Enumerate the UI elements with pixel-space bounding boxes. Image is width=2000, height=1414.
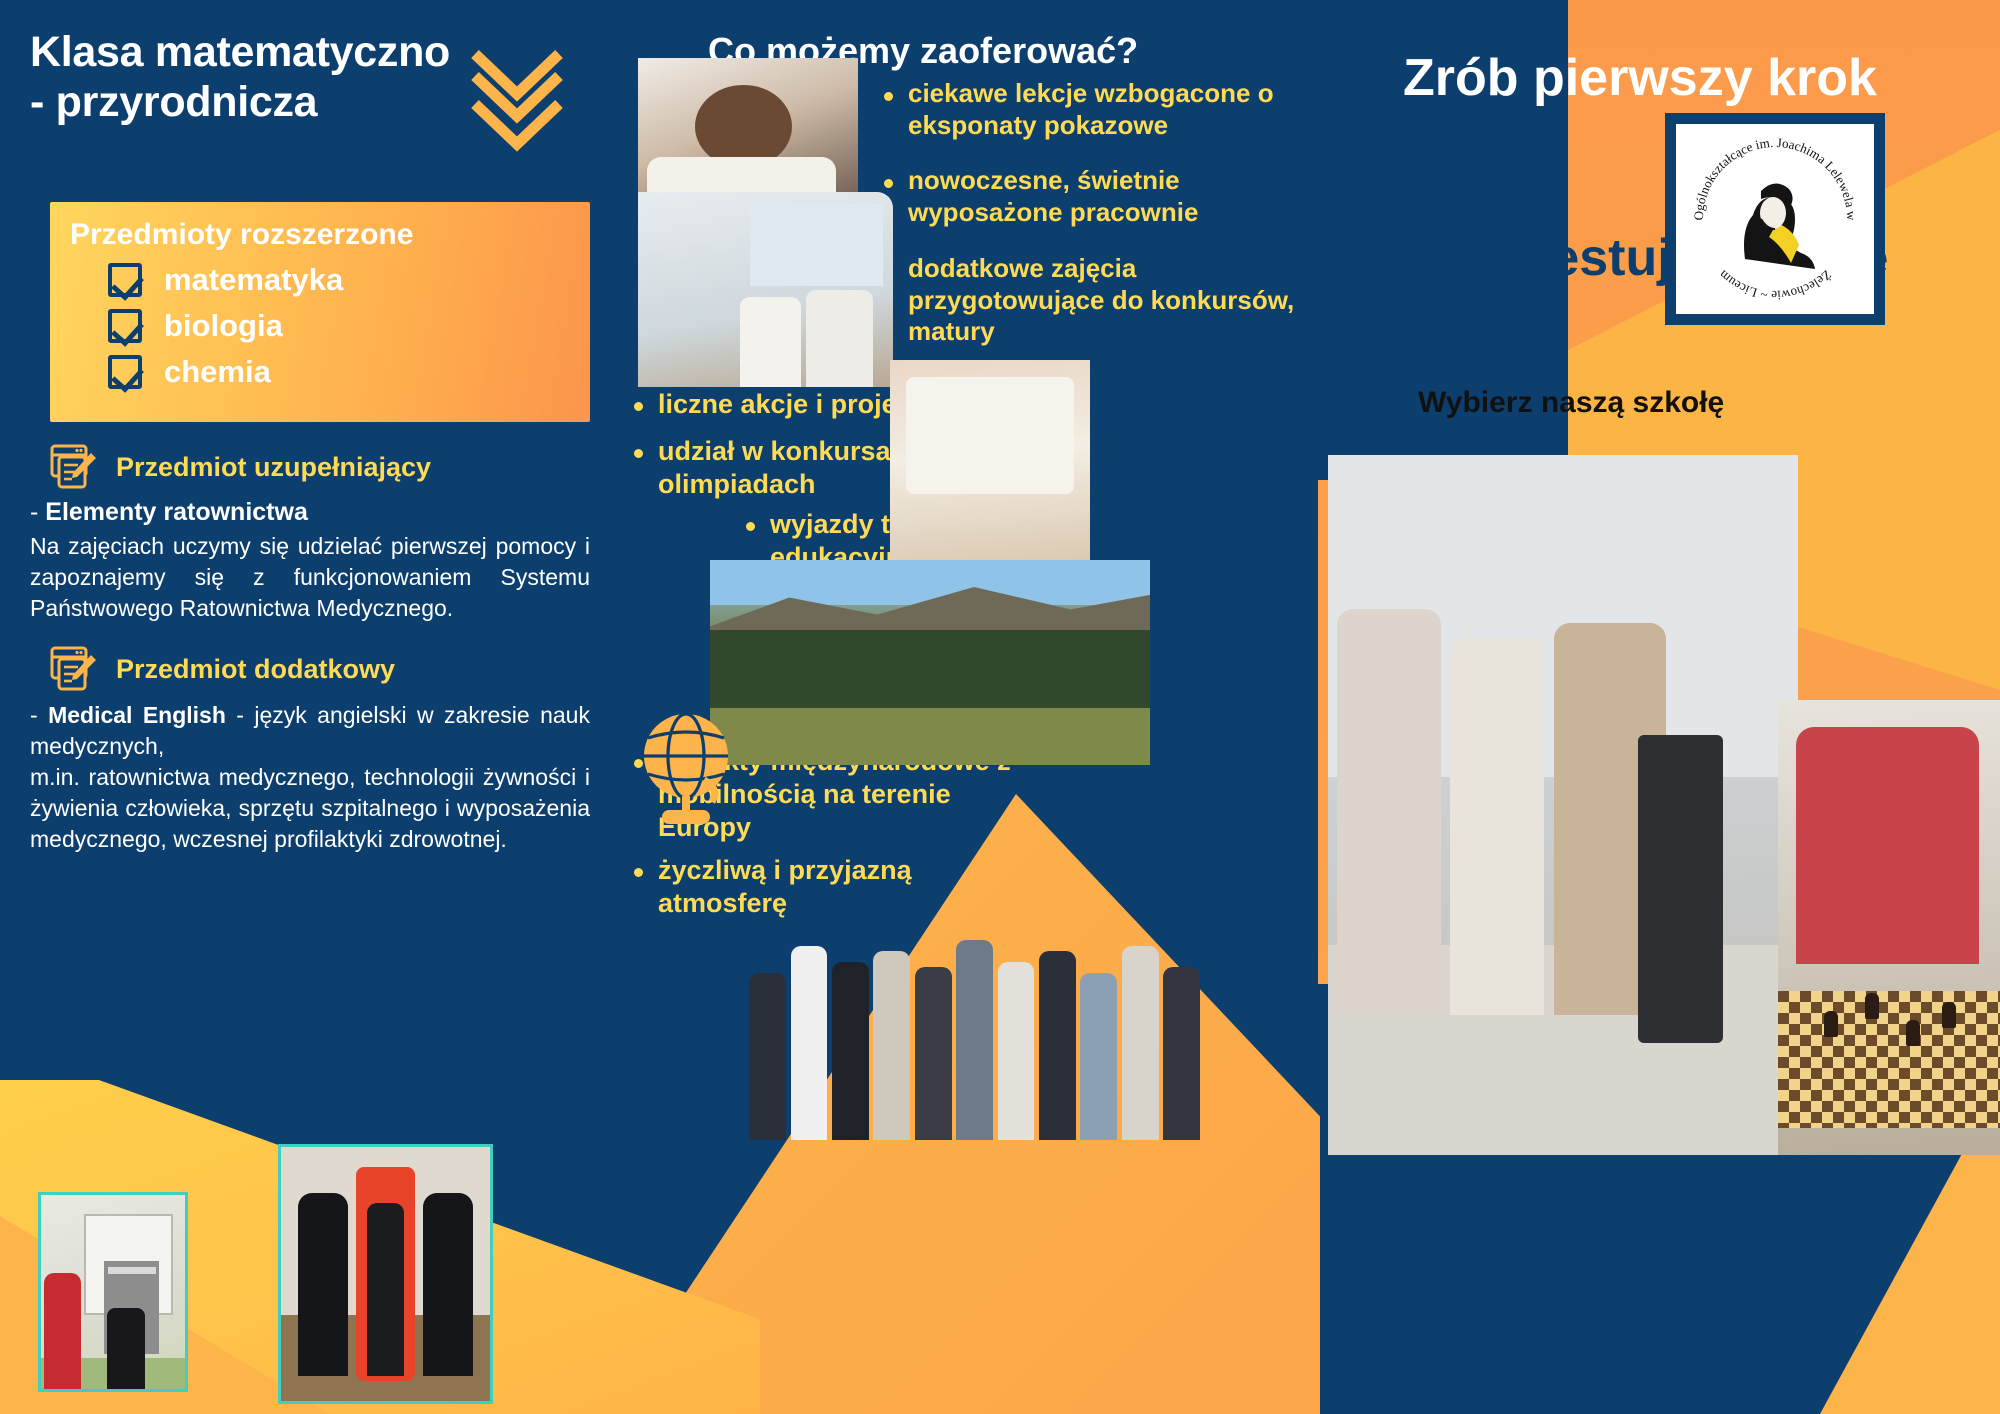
double-chevron-down-icon [467,46,572,176]
photo-rescue-training [278,1144,493,1404]
photo-classroom-microscope [1328,455,1798,1155]
subject-label: chemia [164,354,271,390]
photo-mountain-trip-group [710,560,1150,765]
photo-human-organs-lesson [38,1192,188,1392]
supplementary-subject-heading-row: Przedmiot uzupełniający [50,444,590,490]
list-item: chemia [108,354,570,390]
dash-lead: - [30,702,48,728]
offer-bullets-top: ciekawe lekcje wzbogacone o eksponaty po… [878,78,1298,372]
checkbox-checked-icon[interactable] [108,263,142,297]
dash-lead: - [30,498,45,526]
additional-subject-title: Przedmiot dodatkowy [116,654,395,685]
document-pencil-icon [50,646,98,692]
school-crest-icon: Ogólnokształcące im. Joachima Lelewela w… [1685,129,1865,309]
globe-icon [630,710,750,828]
additional-subject-body: m.in. ratownictwa medycznego, technologi… [30,762,590,855]
supplementary-subject-body: Na zajęciach uczymy się udzielać pierwsz… [30,531,590,624]
supplementary-subject-name-text: Elementy ratownictwa [45,498,308,526]
extended-subjects-box: Przedmioty rozszerzone matematyka biolog… [50,202,590,422]
supplementary-subject-name: - Elementy ratownictwa [30,498,590,527]
additional-subject-intro: - Medical English - język angielski w za… [30,700,590,762]
extended-subjects-title: Przedmioty rozszerzone [70,218,570,252]
page-title: Klasa matematyczno - przyrodnicza [30,28,460,128]
subject-label: biologia [164,308,283,344]
cta-subline: Wybierz naszą szkołę [1418,386,1938,420]
checkbox-checked-icon[interactable] [108,309,142,343]
cta-headline-primary: Zrób pierwszy krok [1403,48,1903,108]
photo-lab-students [638,192,893,387]
additional-subject-name: Medical English [48,702,226,728]
left-title-row: Klasa matematyczno - przyrodnicza [30,28,590,176]
list-item: dodatkowe zajęcia przygotowujące do konk… [878,253,1298,348]
school-logo: Ogólnokształcące im. Joachima Lelewela w… [1665,113,1885,325]
photo-chess-player [1778,700,2000,1155]
brochure-page: Klasa matematyczno - przyrodnicza Przedm… [0,0,2000,1414]
photo-lab-bench [890,360,1090,570]
list-item: biologia [108,308,570,344]
additional-subject-heading-row: Przedmiot dodatkowy [50,646,590,692]
photo-student-group [740,840,1200,1140]
middle-column: Co możemy zaoferować? [620,0,1320,1414]
subject-label: matematyka [164,262,343,298]
checkbox-checked-icon[interactable] [108,355,142,389]
list-item: nowoczesne, świetnie wyposażone pracowni… [878,165,1298,228]
list-item: ciekawe lekcje wzbogacone o eksponaty po… [878,78,1298,141]
document-pencil-icon [50,444,98,490]
supplementary-subject-title: Przedmiot uzupełniający [116,452,431,483]
list-item: matematyka [108,262,570,298]
right-column: Zrób pierwszy krok Zainwestuj w siebie W… [1318,0,2000,1414]
